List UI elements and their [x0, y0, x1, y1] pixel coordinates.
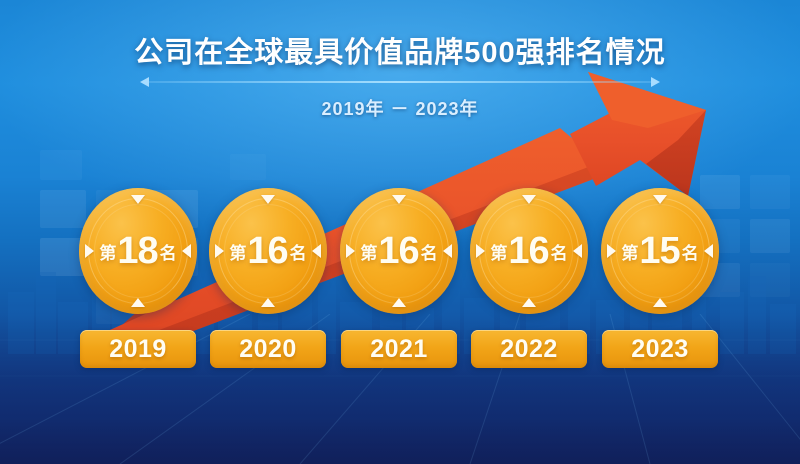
medal-label: 第 18 名: [79, 188, 197, 314]
page-subtitle: 2019年 － 2023年: [0, 95, 800, 121]
ranking-medals: 第 18 名 第 16 名: [0, 188, 800, 318]
medal-label: 第 15 名: [601, 188, 719, 314]
medal-suffix: 名: [160, 239, 177, 264]
medal-2022[interactable]: 第 16 名: [470, 188, 588, 314]
year-chip-2023[interactable]: 2023: [602, 330, 718, 368]
medal-prefix: 第: [621, 239, 638, 264]
medal-label: 第 16 名: [470, 188, 588, 314]
medal-rank: 16: [508, 232, 548, 270]
header-block: 公司在全球最具价值品牌500强排名情况 2019年 － 2023年: [0, 38, 800, 121]
medal-suffix: 名: [290, 239, 307, 264]
year-chip-2021[interactable]: 2021: [341, 330, 457, 368]
year-label: 2021: [370, 335, 428, 364]
medal-prefix: 第: [99, 239, 116, 264]
medal-prefix: 第: [229, 239, 246, 264]
page-title: 公司在全球最具价值品牌500强排名情况: [0, 38, 800, 70]
medal-rank: 16: [378, 232, 418, 270]
year-label: 2022: [500, 335, 558, 364]
medal-rank: 15: [639, 232, 679, 270]
medal-rank: 16: [247, 232, 287, 270]
infographic-canvas: 公司在全球最具价值品牌500强排名情况 2019年 － 2023年: [0, 0, 800, 464]
medal-2023[interactable]: 第 15 名: [601, 188, 719, 314]
title-divider: [140, 77, 660, 87]
year-chip-2022[interactable]: 2022: [471, 330, 587, 368]
medal-suffix: 名: [682, 239, 699, 264]
year-label: 2023: [631, 335, 689, 364]
year-axis: 2019 2020 2021 2022 2023: [0, 330, 800, 370]
year-chip-2019[interactable]: 2019: [80, 330, 196, 368]
medal-label: 第 16 名: [209, 188, 327, 314]
year-label: 2019: [109, 335, 167, 364]
divider-bar: [149, 81, 651, 83]
medal-rank: 18: [117, 232, 157, 270]
medal-prefix: 第: [360, 239, 377, 264]
medal-label: 第 16 名: [340, 188, 458, 314]
divider-right-arrow-icon: [651, 77, 660, 87]
medal-suffix: 名: [421, 239, 438, 264]
medal-2021[interactable]: 第 16 名: [340, 188, 458, 314]
year-chip-2020[interactable]: 2020: [210, 330, 326, 368]
medal-2019[interactable]: 第 18 名: [79, 188, 197, 314]
medal-suffix: 名: [551, 239, 568, 264]
divider-left-arrow-icon: [140, 77, 149, 87]
medal-2020[interactable]: 第 16 名: [209, 188, 327, 314]
medal-prefix: 第: [490, 239, 507, 264]
year-label: 2020: [239, 335, 297, 364]
